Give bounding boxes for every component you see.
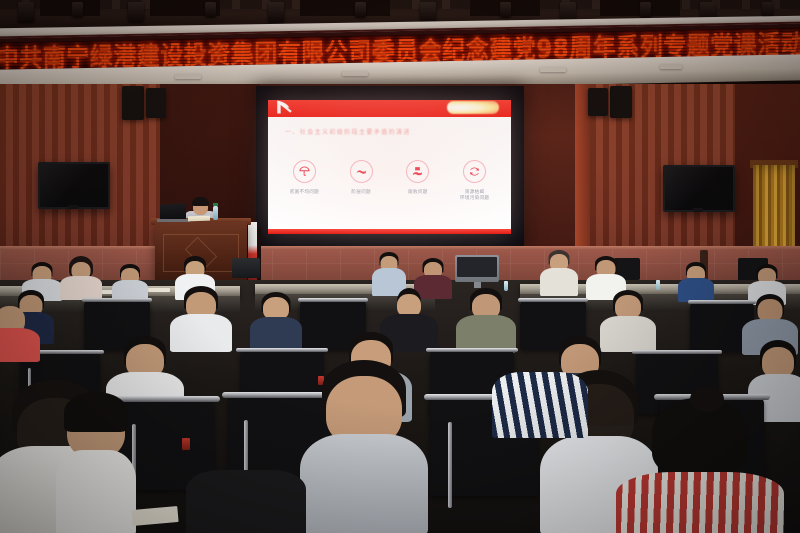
desk-monitor (455, 255, 499, 282)
desk-papers (148, 288, 170, 292)
ceiling-vent (540, 67, 566, 72)
slide-item-label: 资源枯竭 环境污染问题 (451, 189, 499, 201)
attendee-foreground (300, 360, 428, 533)
podium-laptop-base (157, 219, 190, 222)
wall-display-left (38, 162, 110, 209)
ceiling-vent (342, 71, 368, 76)
ceiling-beam (300, 0, 390, 16)
ceiling-spotlight-icon (72, 2, 83, 17)
slide-item: 阶层问题 (337, 160, 385, 201)
podium-documents (188, 216, 210, 222)
chair-headrest-bar (82, 298, 152, 302)
ceiling-spotlight-icon (640, 2, 651, 17)
slide-icon-row: 贫富不均问题 阶层问题 腐败问题 资源枯竭 环境污染问题 (268, 160, 511, 201)
slide-item-label: 腐败问题 (394, 189, 442, 195)
monitor-screen (457, 257, 497, 277)
chair-frame-leg (448, 422, 452, 508)
wall-display-right (663, 165, 735, 212)
slide-footer-bar (268, 229, 511, 234)
attendee (540, 250, 578, 296)
wall-display-mount (68, 205, 78, 209)
chair-headrest-bar (518, 298, 588, 302)
ceiling-spotlight-icon (268, 2, 284, 22)
chair-headrest-bar (632, 350, 722, 354)
recycle-icon (463, 160, 486, 183)
ceiling-spotlight-icon (762, 2, 773, 17)
slide-item: 腐败问题 (394, 160, 442, 201)
slide-item: 资源枯竭 环境污染问题 (451, 160, 499, 201)
money-hand-icon (406, 160, 429, 183)
presentation-slide: 一、社会主义初级阶段主要矛盾的演进 贫富不均问题 阶层问题 腐败问题 (268, 100, 511, 234)
attendee (492, 372, 588, 438)
line-array-speaker (588, 88, 608, 116)
hammer-sickle-party-emblem-icon (274, 100, 296, 117)
attendee (456, 288, 516, 350)
ceiling-vent (660, 64, 682, 69)
line-array-speaker (146, 88, 166, 118)
projector-glare (447, 101, 499, 114)
attendee (112, 264, 148, 300)
slide-item: 贫富不均问题 (280, 160, 328, 201)
ceiling-spotlight-icon (420, 2, 436, 22)
chair-headrest-bar (426, 348, 518, 352)
chair-headrest-bar (298, 298, 368, 302)
desk-monitor-secondary (232, 258, 260, 278)
attendee-foreground (616, 398, 784, 533)
ceiling-beam (40, 0, 100, 16)
umbrella-icon (293, 160, 316, 183)
ceiling-vent (175, 74, 201, 79)
ceiling-spotlight-icon (500, 2, 511, 17)
ceiling-spotlight-icon (205, 2, 216, 17)
attendee (0, 300, 40, 358)
water-bottle (656, 280, 660, 290)
slide-header-bar (268, 100, 511, 117)
ceiling-truss (0, 0, 800, 9)
slide-item-label: 贫富不均问题 (280, 189, 328, 195)
wall-display-mount (693, 208, 703, 212)
attendee (250, 292, 302, 350)
attendee (678, 262, 714, 300)
ceiling-spotlight-icon (18, 2, 34, 22)
attendee (60, 256, 102, 298)
podium-water-bottle (213, 206, 218, 220)
ceiling-spotlight-icon (355, 2, 366, 17)
line-array-speaker (610, 86, 632, 118)
slide-item-label: 阶层问题 (337, 189, 385, 195)
chair-red-accent (182, 438, 190, 450)
hair-bun (690, 386, 724, 412)
ceiling-spotlight-icon (128, 2, 144, 22)
conference-hall-photo: 中共南宁绿港建设投资集团有限公司委员会纪念建党98周年系列专题党课活动 一、社会… (0, 0, 800, 533)
chair-headrest-bar (236, 348, 328, 352)
attendee-foreground (56, 392, 136, 533)
handshake-icon (350, 160, 373, 183)
podium-bottle-cap (213, 203, 218, 206)
slide-title: 一、社会主义初级阶段主要矛盾的演进 (285, 127, 411, 136)
attendee-foreground (186, 470, 306, 533)
lecturer-hair (192, 197, 209, 206)
line-array-speaker (122, 86, 144, 120)
